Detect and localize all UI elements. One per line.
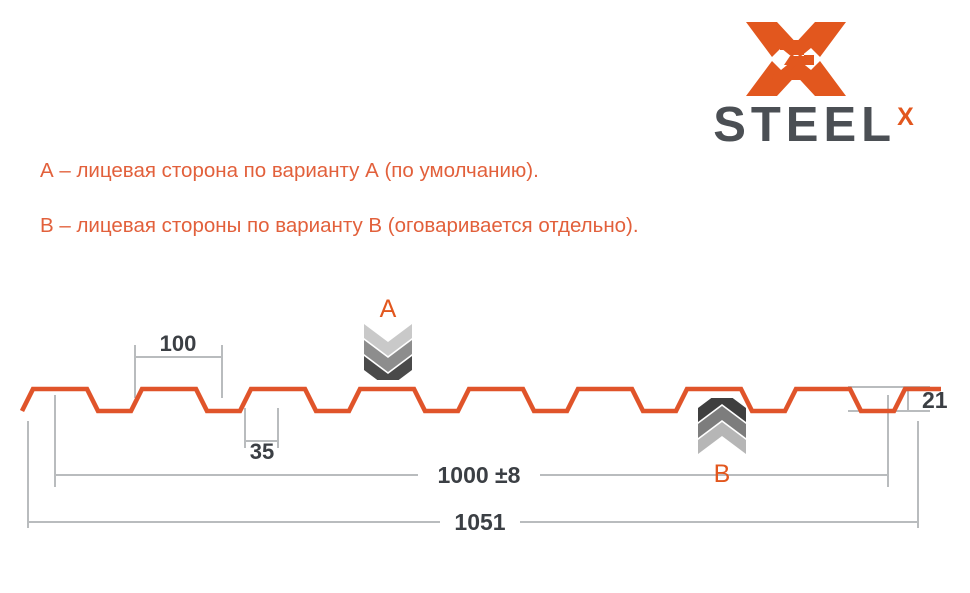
dim-label-height: 21 — [922, 387, 948, 413]
marker-b-label: В — [694, 461, 750, 487]
chevron-down-stack-icon — [360, 322, 416, 380]
dim-label-working-width: 1000 ±8 — [438, 462, 521, 488]
dim-label-total-width: 1051 — [454, 509, 505, 535]
chevron-up-stack-icon — [694, 398, 750, 456]
dim-label-valley: 35 — [250, 439, 274, 464]
dim-label-pitch: 100 — [160, 331, 197, 356]
profile-technical-drawing: 100 35 1000 ±8 1051 21 — [0, 0, 970, 593]
profile-outline-path — [22, 389, 941, 411]
marker-a-label: А — [360, 296, 416, 322]
face-marker-a: А — [360, 296, 416, 385]
face-marker-b: В — [694, 398, 750, 487]
drawing-canvas: STEELX А – лицевая сторона по варианту А… — [0, 0, 970, 593]
